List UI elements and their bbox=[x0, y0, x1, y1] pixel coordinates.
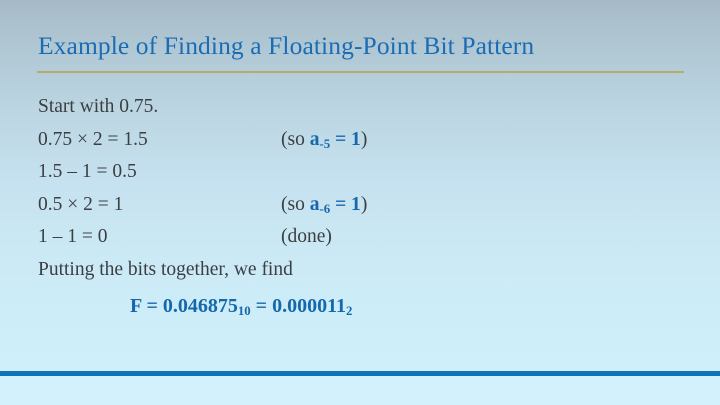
body-line-6: Putting the bits together, we find bbox=[0, 259, 720, 292]
formula-lead: F = 0.046875 bbox=[130, 295, 238, 317]
body-line-2: 0.75 × 2 = 1.5 (so a-5 = 1) bbox=[0, 129, 720, 162]
body-line-3: 1.5 – 1 = 0.5 bbox=[0, 161, 720, 194]
body-line-5: 1 – 1 = 0 (done) bbox=[0, 226, 720, 259]
slide-title-area: Example of Finding a Floating-Point Bit … bbox=[0, 30, 720, 78]
note-prefix: (so bbox=[281, 194, 310, 215]
body-line-4: 0.5 × 2 = 1 (so a-6 = 1) bbox=[0, 194, 720, 227]
body-line-1-text: Start with 0.75. bbox=[38, 96, 158, 118]
body-line-3-text: 1.5 – 1 = 0.5 bbox=[38, 161, 137, 183]
bit-variable-value: = 1 bbox=[330, 194, 361, 215]
body-line-2-note: (so a-5 = 1) bbox=[281, 129, 367, 152]
formula-mid: = 0.000011 bbox=[251, 295, 346, 317]
result-formula: F = 0.04687510 = 0.0000112 bbox=[130, 295, 352, 319]
page-title: Example of Finding a Floating-Point Bit … bbox=[38, 30, 534, 62]
formula-base-2-subscript: 2 bbox=[346, 304, 352, 318]
body-line-2-text: 0.75 × 2 = 1.5 bbox=[38, 129, 148, 151]
formula-base-10-subscript: 10 bbox=[238, 304, 251, 318]
bit-variable-subscript: -5 bbox=[319, 136, 330, 150]
slide-body: Start with 0.75. 0.75 × 2 = 1.5 (so a-5 … bbox=[0, 96, 720, 327]
body-line-4-note: (so a-6 = 1) bbox=[281, 194, 367, 217]
body-line-4-text: 0.5 × 2 = 1 bbox=[38, 194, 123, 216]
bit-variable-name: a bbox=[310, 194, 320, 215]
note-suffix: ) bbox=[361, 194, 368, 215]
bit-variable-subscript: -6 bbox=[319, 201, 330, 215]
slide-footer: ECE 120: Introduction to Computing © 201… bbox=[0, 376, 720, 405]
note-suffix: ) bbox=[361, 129, 368, 150]
bit-variable-a-minus-5: a-5 = 1 bbox=[310, 129, 361, 150]
bit-variable-a-minus-6: a-6 = 1 bbox=[310, 194, 361, 215]
note-prefix: (so bbox=[281, 129, 310, 150]
bit-variable-name: a bbox=[310, 129, 320, 150]
body-line-5-note: (done) bbox=[281, 226, 332, 248]
body-line-1: Start with 0.75. bbox=[0, 96, 720, 129]
result-formula-line: F = 0.04687510 = 0.0000112 bbox=[0, 295, 720, 327]
presentation-slide: Example of Finding a Floating-Point Bit … bbox=[0, 0, 720, 405]
body-line-5-text: 1 – 1 = 0 bbox=[38, 226, 108, 248]
title-underline-rule bbox=[37, 71, 684, 73]
bit-variable-value: = 1 bbox=[330, 129, 361, 150]
body-line-6-text: Putting the bits together, we find bbox=[38, 259, 293, 281]
